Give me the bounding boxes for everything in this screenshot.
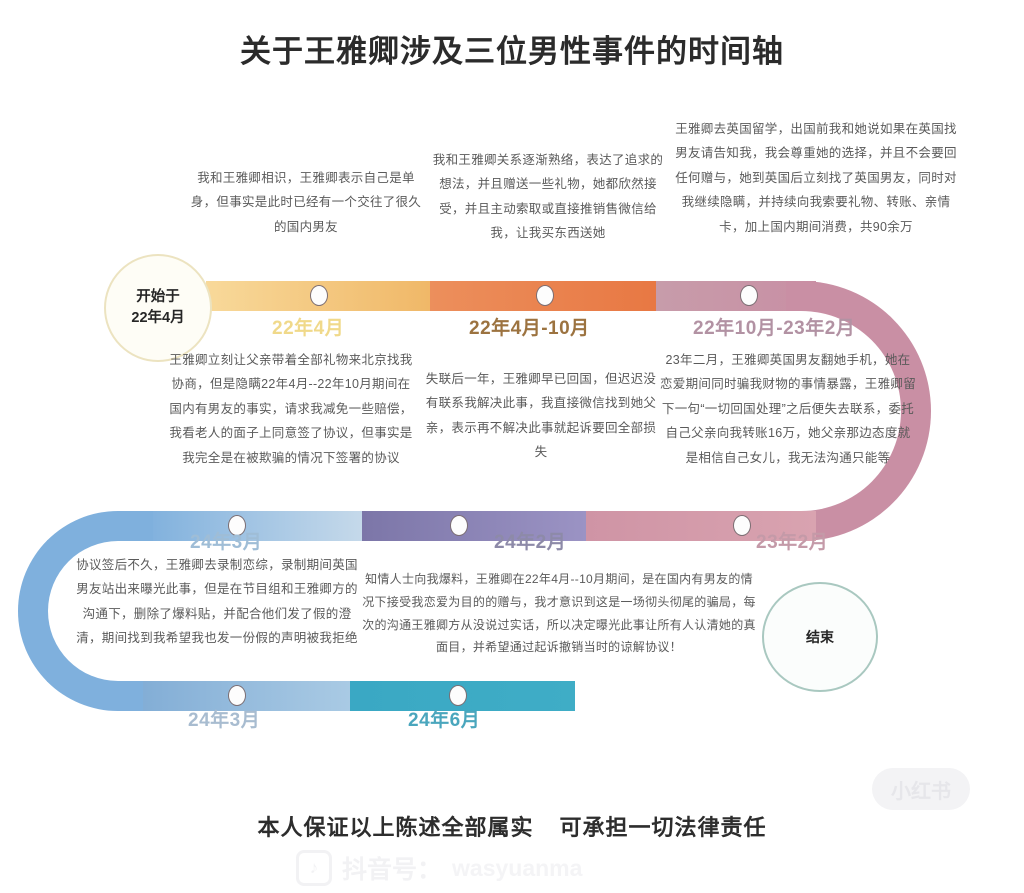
milestone-dot-2022-10-2023-02 [740,285,758,306]
description-seg-2022-10-2023-02-above: 王雅卿去英国留学，出国前我和她说如果在英国找男友请告知我，我会尊重她的选择，并且… [672,117,960,239]
segment-label-2024-03-row3: 24年3月 [188,705,260,732]
description-seg-2022-04-10-above: 我和王雅卿关系逐渐熟络，表达了追求的想法，并且赠送一些礼物，她都欣然接受，并且主… [428,148,668,246]
description-seg-2024-03-row2-below: 协议签后不久，王雅卿去录制恋综，录制期间英国男友站出来曝光此事，但是在节目组和王… [72,553,362,651]
segment-label-2024-02: 24年2月 [494,527,566,554]
douyin-watermark-id: wasyuanma [452,855,582,882]
milestone-dot-2022-04 [310,285,328,306]
description-seg-2022-04-below: 王雅卿立刻让父亲带着全部礼物来北京找我协商，但是隐瞒22年4月--22年10月期… [168,348,414,470]
milestone-dot-2022-04-10 [536,285,554,306]
description-seg-2024-02-below: 知情人士向我爆料，王雅卿在22年4月--10月期间，是在国内有男友的情况下接受我… [362,568,756,659]
description-seg-2022-04-above: 我和王雅卿相识，王雅卿表示自己是单身，但事实是此时已经有一个交往了很久的国内男友 [190,166,422,239]
milestone-dot-2024-06 [449,685,467,706]
page-title: 关于王雅卿涉及三位男性事件的时间轴 [0,26,1024,71]
douyin-watermark-prefix: 抖音号： [342,850,442,886]
timeline-end-marker: 结束 [762,582,878,692]
footer-statement-part1: 本人保证以上陈述全部属实 [257,815,533,840]
start-marker-line2: 22年4月 [131,308,184,329]
segment-label-2024-06: 24年6月 [408,705,480,732]
douyin-watermark: ♪ 抖音号： wasyuanma [296,848,996,888]
music-note-icon: ♪ [296,850,332,886]
end-marker-label: 结束 [806,627,834,647]
segment-label-2024-03-row2: 24年3月 [190,527,262,554]
description-seg-2022-04-10-below: 失联后一年，王雅卿早已回国，但迟迟没有联系我解决此事，我直接微信找到她父亲，表示… [424,367,658,465]
timeline-infographic: 关于王雅卿涉及三位男性事件的时间轴 我和王雅卿相识，王雅卿表示自己是单身，但事实… [0,0,1024,893]
xiaohongshu-watermark: 小红书 [872,768,970,810]
segment-label-2023-02: 23年2月 [756,527,828,554]
xiaohongshu-watermark-label: 小红书 [891,775,951,804]
timeline-start-marker: 开始于 22年4月 [104,254,212,362]
footer-statement-part2: 可承担一切法律责任 [560,815,767,840]
footer-statement: 本人保证以上陈述全部属实可承担一切法律责任 [0,810,1024,842]
milestone-dot-2023-02 [733,515,751,536]
segment-label-2022-04: 22年4月 [272,313,344,340]
description-seg-2022-10-2023-02-below: 23年二月，王雅卿英国男友翻她手机，她在恋爱期间同时骗我财物的事情暴露，王雅卿留… [660,348,916,470]
segment-label-2022-04-10: 22年4月-10月 [469,313,590,340]
segment-label-2022-10-2023-02: 22年10月-23年2月 [693,313,855,340]
milestone-dot-2024-03-row3 [228,685,246,706]
start-marker-line1: 开始于 [131,287,184,308]
milestone-dot-2024-02 [450,515,468,536]
